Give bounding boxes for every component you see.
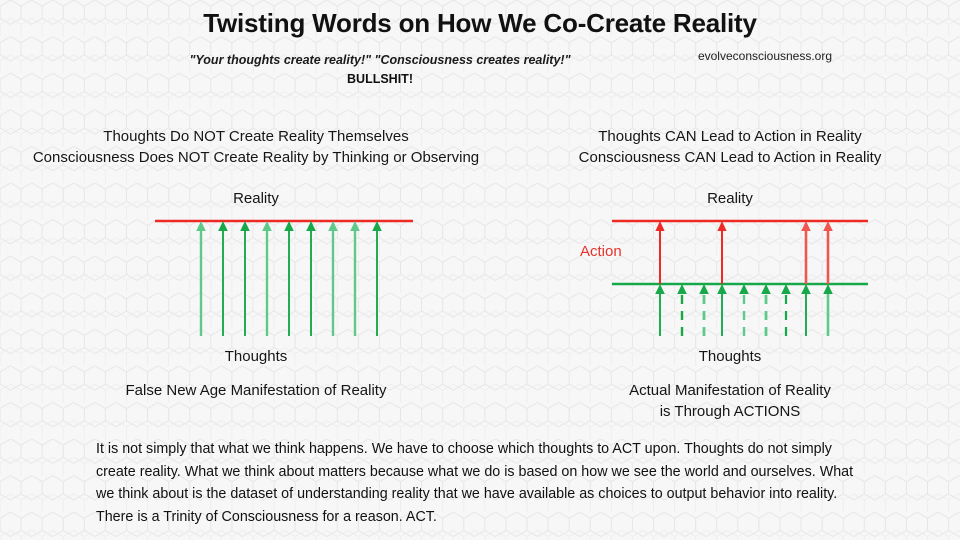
body-paragraph: It is not simply that what we think happ… bbox=[96, 438, 872, 528]
right-panel-footer: Actual Manifestation of Reality is Throu… bbox=[500, 380, 960, 422]
thought-arrow-2 bbox=[218, 221, 228, 336]
thought-arrow-5 bbox=[739, 284, 749, 336]
action-arrow-3 bbox=[801, 221, 811, 284]
left-thought-arrows bbox=[196, 221, 382, 336]
thought-arrow-3 bbox=[699, 284, 709, 336]
right-panel: Thoughts CAN Lead to Action in Reality C… bbox=[500, 126, 960, 426]
left-diagram bbox=[8, 212, 504, 352]
right-reality-label: Reality bbox=[500, 190, 960, 207]
right-footer-line-2: is Through ACTIONS bbox=[500, 401, 960, 422]
thought-arrow-8 bbox=[801, 284, 811, 336]
left-thoughts-label: Thoughts bbox=[8, 348, 504, 365]
thought-arrow-1 bbox=[655, 284, 665, 336]
thought-arrow-2 bbox=[677, 284, 687, 336]
action-arrow-1 bbox=[655, 221, 664, 284]
thought-arrow-4 bbox=[717, 284, 727, 336]
right-thoughts-label: Thoughts bbox=[500, 348, 960, 365]
thought-arrow-8 bbox=[350, 221, 360, 336]
thought-arrow-6 bbox=[306, 221, 316, 336]
thought-arrow-6 bbox=[761, 284, 771, 336]
thought-arrow-9 bbox=[823, 284, 833, 336]
left-panel-heading: Thoughts Do NOT Create Reality Themselve… bbox=[8, 126, 504, 168]
right-panel-heading: Thoughts CAN Lead to Action in Reality C… bbox=[500, 126, 960, 168]
left-panel-footer: False New Age Manifestation of Reality bbox=[8, 380, 504, 401]
right-thought-arrows bbox=[655, 284, 833, 336]
right-diagram bbox=[500, 212, 960, 352]
left-heading-line-2: Consciousness Does NOT Create Reality by… bbox=[8, 147, 504, 168]
emphasis-bullshit: BULLSHIT! bbox=[0, 72, 760, 86]
right-action-arrows bbox=[655, 221, 832, 284]
left-reality-label: Reality bbox=[8, 190, 504, 207]
thought-arrow-4 bbox=[262, 221, 272, 336]
thought-arrow-7 bbox=[328, 221, 338, 336]
thought-arrow-1 bbox=[196, 221, 206, 336]
left-panel: Thoughts Do NOT Create Reality Themselve… bbox=[8, 126, 504, 426]
action-arrow-4 bbox=[823, 221, 833, 284]
action-arrow-2 bbox=[717, 221, 726, 284]
right-heading-line-1: Thoughts CAN Lead to Action in Reality bbox=[500, 126, 960, 147]
infographic-poster: Twisting Words on How We Co-Create Reali… bbox=[0, 0, 960, 540]
thought-arrow-5 bbox=[284, 221, 294, 336]
left-heading-line-1: Thoughts Do NOT Create Reality Themselve… bbox=[8, 126, 504, 147]
thought-arrow-7 bbox=[781, 284, 791, 336]
page-title: Twisting Words on How We Co-Create Reali… bbox=[0, 8, 960, 39]
right-footer-line-1: Actual Manifestation of Reality bbox=[500, 380, 960, 401]
thought-arrow-9 bbox=[372, 221, 382, 336]
right-heading-line-2: Consciousness CAN Lead to Action in Real… bbox=[500, 147, 960, 168]
thought-arrow-3 bbox=[240, 221, 250, 336]
website-attribution: evolveconsciousness.org bbox=[600, 49, 930, 63]
